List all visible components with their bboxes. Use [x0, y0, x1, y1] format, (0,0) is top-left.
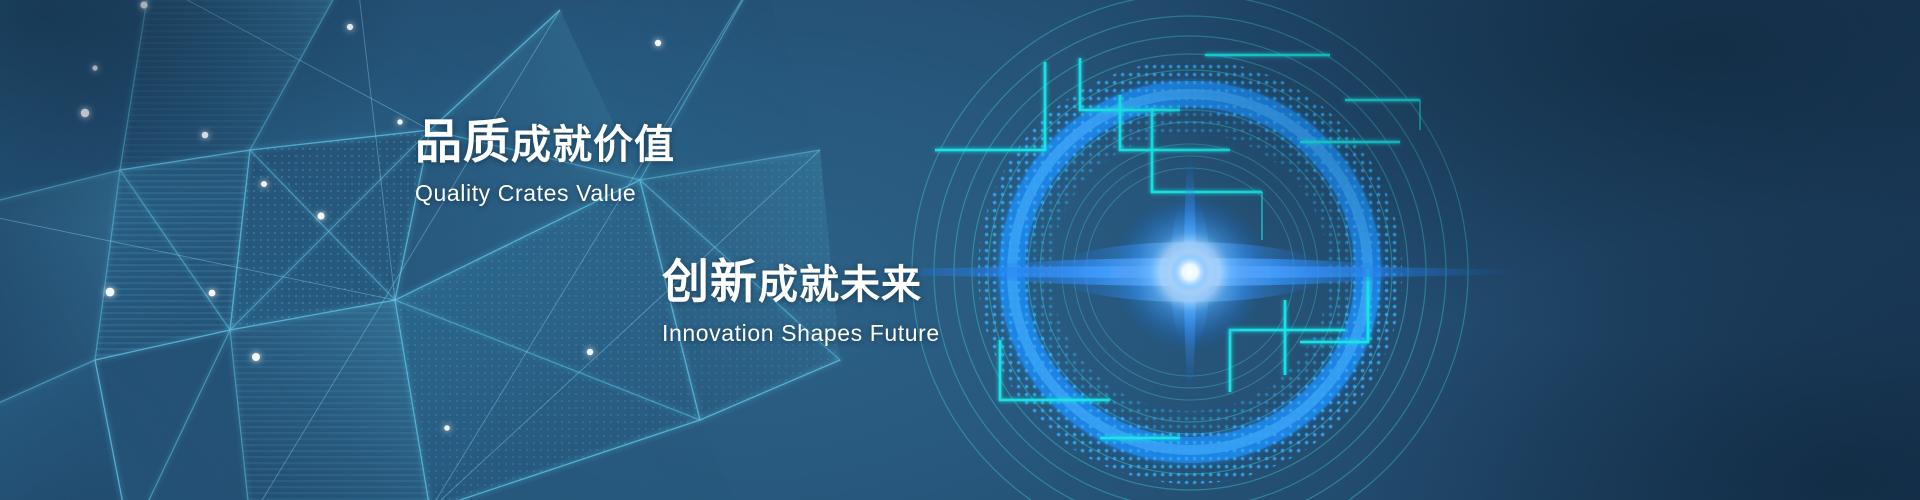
light-flare-graphic: [860, 154, 1520, 390]
headline-quality-cn-rest: 成就价值: [511, 125, 675, 165]
headline-innovation-english: Innovation Shapes Future: [662, 320, 940, 347]
headline-quality: 品质 成就价值 Quality Crates Value: [415, 118, 675, 207]
headline-innovation-chinese: 创新 成就未来: [662, 258, 940, 305]
hero-banner: 品质 成就价值 Quality Crates Value 创新 成就未来 Inn…: [0, 0, 1920, 500]
headline-innovation-cn-rest: 成就未来: [758, 265, 922, 305]
headline-quality-english: Quality Crates Value: [415, 180, 675, 207]
headline-quality-cn-strong: 品质: [415, 118, 511, 165]
tech-ring-graphic: [0, 0, 1920, 500]
headline-innovation: 创新 成就未来 Innovation Shapes Future: [662, 258, 940, 347]
headline-innovation-cn-strong: 创新: [662, 258, 758, 305]
headline-quality-chinese: 品质 成就价值: [415, 118, 675, 165]
